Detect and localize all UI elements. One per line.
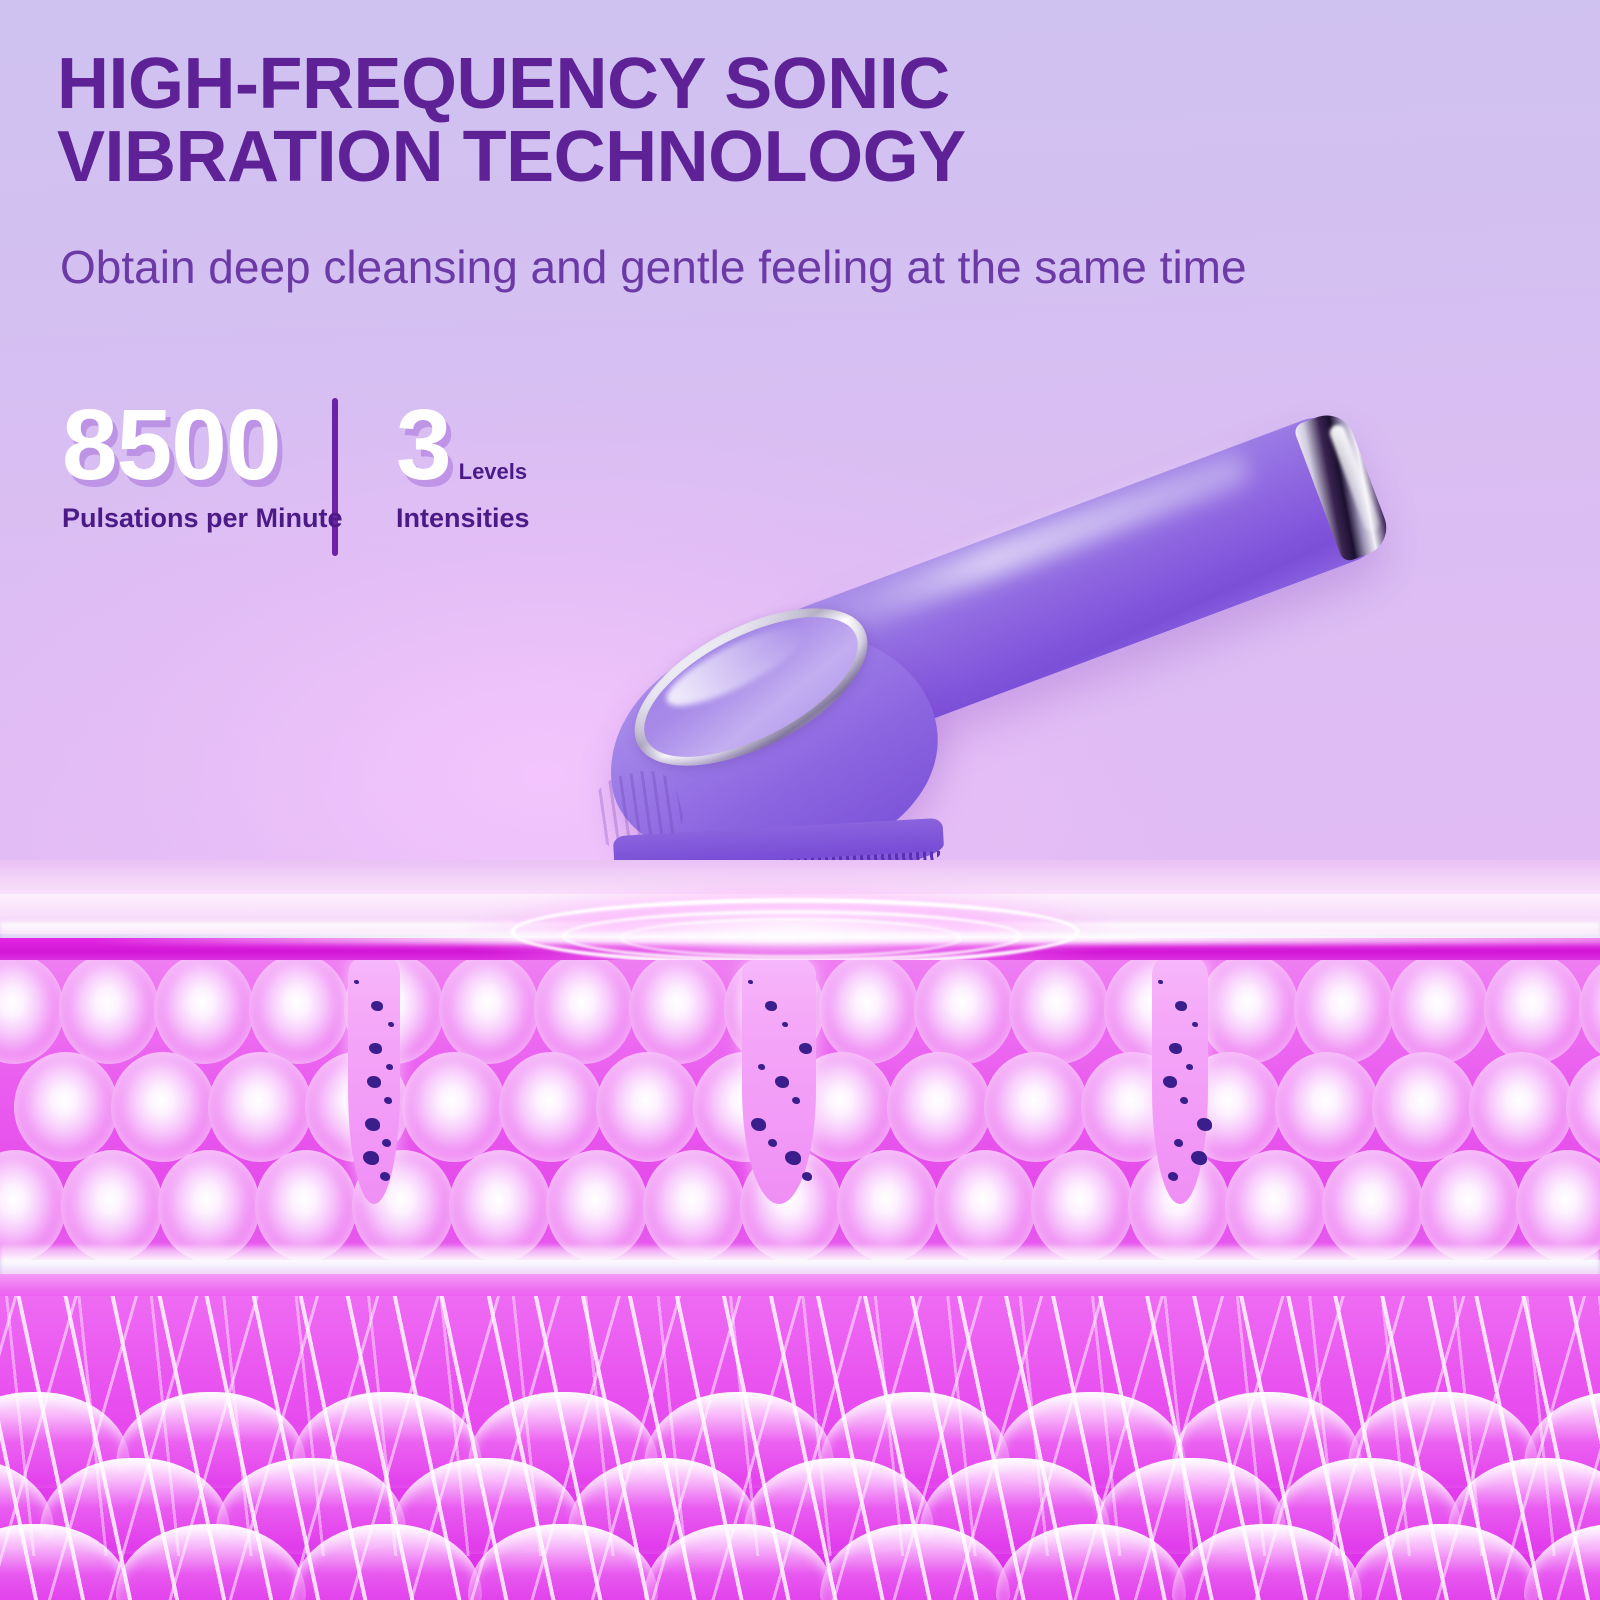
stat-value: 3 [396, 398, 451, 493]
skin-cell [1225, 1150, 1327, 1260]
skin-cell [819, 960, 919, 1064]
dirt-particle [775, 1076, 789, 1088]
dirt-particle [363, 1151, 379, 1165]
skin-cell [249, 960, 349, 1064]
headline-line-2: VIBRATION TECHNOLOGY [57, 121, 1457, 194]
dirt-particle [1186, 1064, 1193, 1070]
skin-cell [499, 1052, 603, 1162]
skin-cell [546, 1150, 648, 1260]
stat-label: Pulsations per Minute [62, 503, 332, 534]
dirt-particle [1180, 1097, 1188, 1104]
product-image [560, 455, 1600, 925]
dirt-particle [768, 1139, 777, 1147]
skin-cell [643, 1150, 745, 1260]
skin-cell [1199, 960, 1299, 1064]
sonic-wave-ripple [470, 874, 1110, 958]
skin-cell [1389, 960, 1489, 1064]
ripple-streak [90, 932, 1600, 944]
skin-pore-channel [1152, 960, 1208, 1204]
skin-cell [0, 1150, 66, 1260]
skin-cell [439, 960, 539, 1064]
dirt-particle [367, 1076, 381, 1088]
dirt-particle [354, 980, 359, 984]
skin-cell [629, 960, 729, 1064]
skin-cell [914, 960, 1014, 1064]
skin-pore-channel [742, 960, 816, 1204]
dirt-particle [1169, 1043, 1182, 1054]
dirt-particle [802, 1172, 812, 1181]
skin-cell [534, 960, 634, 1064]
dirt-particle [782, 1022, 788, 1027]
skin-cell [837, 1150, 939, 1260]
skin-cell [158, 1150, 260, 1260]
dirt-particle [384, 1097, 392, 1104]
dirt-particle [369, 1043, 382, 1054]
skin-cell [984, 1052, 1088, 1162]
skin-cell [154, 960, 254, 1064]
page-subtitle: Obtain deep cleansing and gentle feeling… [60, 240, 1520, 295]
dirt-particle [792, 1097, 800, 1104]
dirt-particle [1168, 1172, 1178, 1181]
dirt-particle [765, 1001, 777, 1011]
stat-pulsations: 8500 Pulsations per Minute [62, 398, 332, 534]
skin-cell [402, 1052, 506, 1162]
stat-superscript: Levels [459, 459, 528, 485]
dirt-particle [748, 980, 753, 984]
epidermis-layer [0, 960, 1600, 1260]
dirt-particle [1175, 1001, 1187, 1011]
skin-cell [887, 1052, 991, 1162]
dirt-particle [365, 1118, 380, 1131]
spec-stats: 8500 Pulsations per Minute 3 Levels Inte… [62, 398, 530, 560]
skin-pore-channel [348, 960, 400, 1204]
skin-cell [1294, 960, 1394, 1064]
skin-cell [61, 1150, 163, 1260]
skin-cell [255, 1150, 357, 1260]
skin-cell [1579, 960, 1600, 1064]
skin-cell [1031, 1150, 1133, 1260]
dirt-particle [1158, 980, 1163, 984]
skin-cell [0, 960, 64, 1064]
skin-cell [1275, 1052, 1379, 1162]
handle-highlight [810, 450, 1254, 643]
stat-label: Intensities [396, 503, 530, 534]
collagen-fibers-secondary [0, 1296, 1600, 1556]
dirt-particle [751, 1118, 766, 1131]
page-title: HIGH-FREQUENCY SONIC VIBRATION TECHNOLOG… [57, 48, 1457, 195]
product-infographic: HIGH-FREQUENCY SONIC VIBRATION TECHNOLOG… [0, 0, 1600, 1600]
dermis-layer [0, 1296, 1600, 1600]
skin-cell [111, 1052, 215, 1162]
stat-intensities: 3 Levels Intensities [396, 398, 530, 534]
dirt-particle [1174, 1139, 1183, 1147]
dirt-particle [371, 1001, 383, 1011]
skin-cell [934, 1150, 1036, 1260]
headline-line-1: HIGH-FREQUENCY SONIC [57, 48, 1457, 121]
dirt-particle [1191, 1151, 1207, 1165]
stat-value: 8500 [62, 398, 280, 493]
dirt-particle [386, 1064, 393, 1070]
skin-cell [1516, 1150, 1600, 1260]
dirt-particle [388, 1022, 394, 1027]
skin-cell [596, 1052, 700, 1162]
skin-cell [14, 1052, 118, 1162]
dirt-particle [1192, 1022, 1198, 1027]
dirt-particle [758, 1064, 765, 1070]
skin-cell [1469, 1052, 1573, 1162]
skin-cell [59, 960, 159, 1064]
skin-cell [449, 1150, 551, 1260]
dirt-particle [1197, 1118, 1212, 1131]
dirt-particle [1163, 1076, 1177, 1088]
skin-cell [1372, 1052, 1476, 1162]
dirt-particle [382, 1139, 391, 1147]
dirt-particle [785, 1151, 801, 1165]
skin-cell [1566, 1052, 1600, 1162]
skin-cell [1009, 960, 1109, 1064]
dirt-particle [799, 1043, 812, 1054]
skin-cell [208, 1052, 312, 1162]
skin-cell [1484, 960, 1584, 1064]
skin-cross-section [0, 860, 1600, 1600]
skin-cell [1322, 1150, 1424, 1260]
skin-cell [1419, 1150, 1521, 1260]
dirt-particle [380, 1172, 390, 1181]
